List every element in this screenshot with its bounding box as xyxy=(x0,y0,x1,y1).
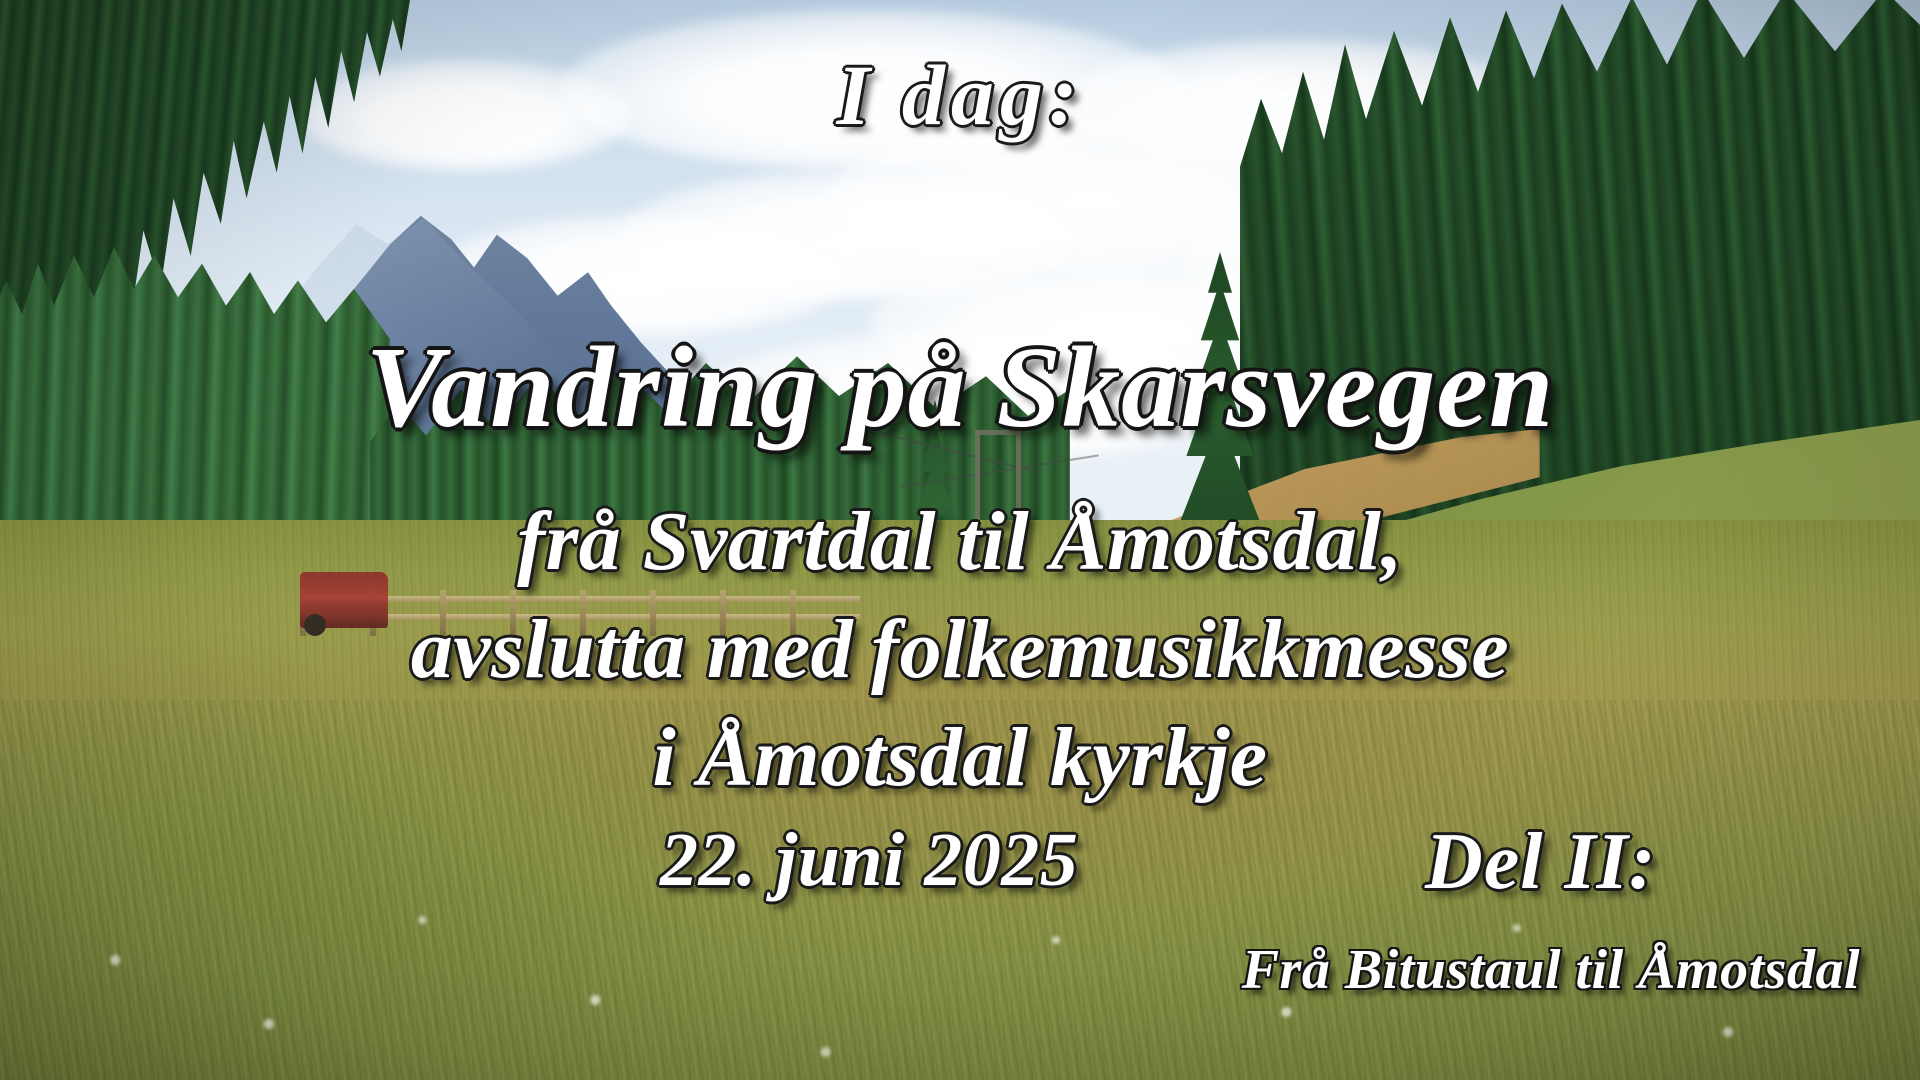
subtitle-line-2: avslutta medfolkemusikkmesse xyxy=(411,608,1509,692)
main-title: Vandring på Skarsvegen xyxy=(366,330,1555,446)
kicker-part2: dag: xyxy=(902,47,1084,143)
kicker-part1: I xyxy=(836,47,875,143)
route-caption: Frå Bitustaul til Åmotsdal xyxy=(1242,942,1860,998)
subtitle-line-3: i Åmotsdal kyrkje xyxy=(652,716,1267,800)
subtitle-line-1: frå Svartdal til Åmotsdal, xyxy=(517,500,1403,584)
kicker-line: Idag: xyxy=(836,52,1083,138)
subtitle-line-2b: folkemusikkmesse xyxy=(871,603,1509,696)
video-title-card: Idag: Vandring på Skarsvegen frå Svartda… xyxy=(0,0,1920,1080)
part-label: Del II: xyxy=(1425,822,1656,902)
title-text-overlay: Idag: Vandring på Skarsvegen frå Svartda… xyxy=(0,0,1920,1080)
event-date: 22. juni 2025 xyxy=(660,822,1078,898)
subtitle-line-2a: avslutta med xyxy=(411,603,853,696)
